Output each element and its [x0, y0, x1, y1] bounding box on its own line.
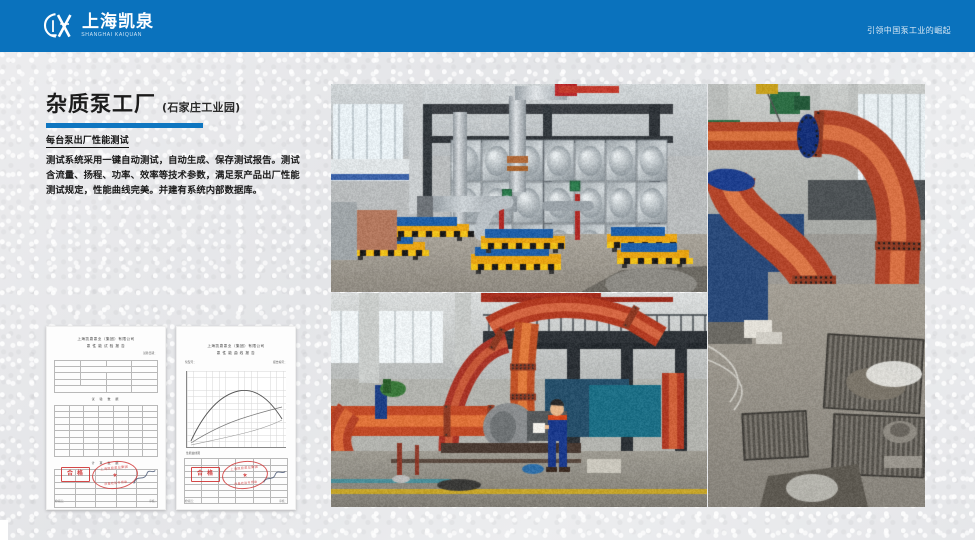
doc2-footer-left: 检验员：	[185, 499, 195, 503]
doc2-meta-line1: 泵型号：	[185, 360, 196, 364]
document-test-report[interactable]: 上海凯泉泵业（集团）有限公司 泵 性 能 试 验 报 告 试验日期： 试 验 数…	[46, 326, 166, 510]
body-text-block: 每台泵出厂性能测试 测试系统采用一键自动测试，自动生成、保存测试报告。测试含流量…	[46, 128, 302, 198]
brand-logo-text: 上海凯泉 SHANGHAI KAIQUAN	[82, 14, 154, 38]
qualified-stamp: 合 格	[61, 467, 90, 482]
document-thumbnails: 上海凯泉泵业（集团）有限公司 泵 性 能 试 验 报 告 试验日期： 试 验 数…	[46, 326, 296, 510]
kaiquan-k-mark-icon	[42, 12, 76, 40]
doc1-meta-line1: 试验日期：	[47, 351, 165, 355]
brand-logo[interactable]: 上海凯泉 SHANGHAI KAIQUAN	[42, 11, 154, 41]
doc2-footer-right: 审核：	[279, 499, 287, 503]
body-heading: 每台泵出厂性能测试	[46, 133, 129, 148]
body-paragraph: 测试系统采用一键自动测试，自动生成、保存测试报告。测试含流量、扬程、功率、效率等…	[46, 153, 302, 198]
brand-name-en: SHANGHAI KAIQUAN	[81, 33, 154, 38]
title-row: 杂质泵工厂 (石家庄工业园)	[46, 88, 316, 118]
performance-curve-chart	[186, 371, 286, 448]
doc1-title-line2: 泵 性 能 试 验 报 告	[47, 343, 165, 349]
doc2-title-line2: 泵 性 能 曲 线 报 告	[177, 350, 295, 356]
doc1-header-table	[54, 360, 158, 393]
doc1-stamp-row: 合 格 上海凯泉泵业集团 质量检验专用章	[47, 461, 165, 495]
header-tagline: 引领中国泵工业的崛起	[867, 25, 951, 36]
doc2-meta-line2: 报告编号：	[273, 360, 287, 364]
doc1-section1-label: 试 验 数 据	[47, 397, 165, 401]
slide-left-margin	[0, 520, 8, 550]
title-block: 杂质泵工厂 (石家庄工业园)	[46, 88, 316, 128]
slide-bottom-margin	[0, 540, 975, 550]
table-row	[55, 386, 158, 392]
page-header: 上海凯泉 SHANGHAI KAIQUAN 引领中国泵工业的崛起	[0, 0, 975, 52]
qualified-stamp: 合 格	[191, 467, 220, 482]
document-curve-report[interactable]: 上海凯泉泵业（集团）有限公司 泵 性 能 曲 线 报 告 泵型号： 报告编号： …	[176, 326, 296, 510]
page-title: 杂质泵工厂	[46, 88, 156, 118]
page-subtitle: (石家庄工业园)	[162, 99, 240, 115]
photo-collage	[331, 84, 925, 507]
doc1-footer-left: 检验员：	[55, 499, 65, 503]
doc1-footer-right: 审核：	[149, 499, 157, 503]
table-row	[55, 450, 158, 456]
doc1-footer: 检验员： 审核：	[55, 499, 157, 503]
doc2-chart-caption: 性能曲线图	[177, 451, 295, 455]
doc1-data-table	[54, 405, 158, 457]
doc2-stamp-row: 合 格 上海凯泉泵业集团 质量检验专用章	[177, 461, 295, 495]
signature-mark	[260, 467, 288, 486]
slide-root: 上海凯泉 SHANGHAI KAIQUAN 引领中国泵工业的崛起 杂质泵工厂 (…	[0, 0, 975, 550]
doc1-title-line1: 上海凯泉泵业（集团）有限公司	[47, 336, 165, 342]
photo-pump-test-bay-water-tanks[interactable]	[331, 84, 707, 292]
brand-name-cn: 上海凯泉	[82, 14, 154, 31]
body-heading-wrap: 每台泵出厂性能测试	[46, 128, 302, 148]
doc2-title-line1: 上海凯泉泵业（集团）有限公司	[177, 343, 295, 349]
photo-large-elbow-pipes-pit[interactable]	[708, 84, 925, 507]
doc2-footer: 检验员： 审核：	[185, 499, 287, 503]
photo-pump-test-red-piping-worker[interactable]	[331, 293, 707, 507]
signature-mark	[130, 467, 158, 486]
doc2-meta: 泵型号： 报告编号：	[177, 360, 295, 364]
